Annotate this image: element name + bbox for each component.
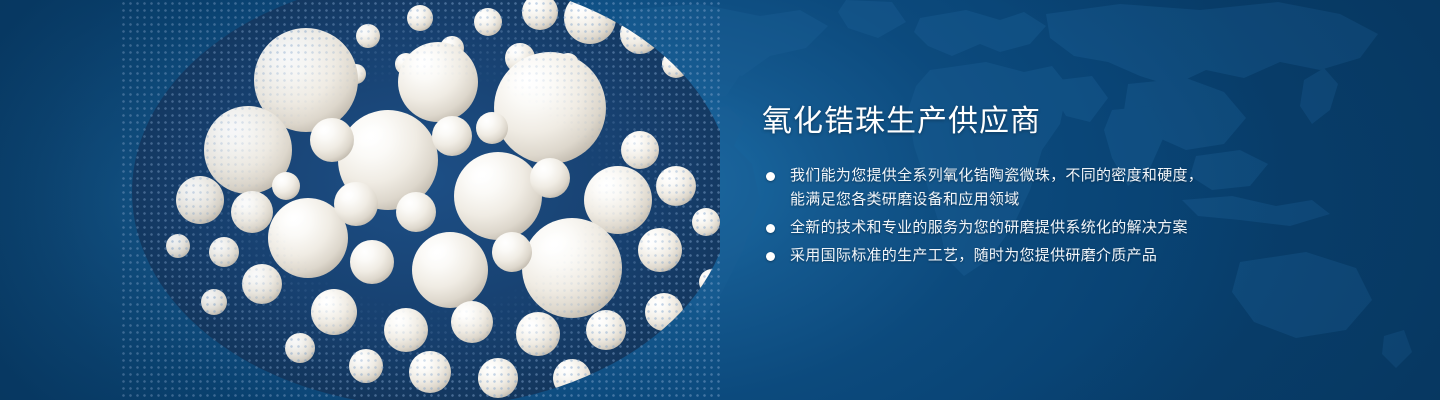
banner-feature-list: 我们能为您提供全系列氧化锆陶瓷微珠，不同的密度和硬度， 能满足您各类研磨设备和应…: [762, 164, 1322, 268]
bullet-line: 能满足您各类研磨设备和应用领域: [790, 188, 1322, 212]
bullet-dot-icon: [766, 252, 775, 261]
list-item: 采用国际标准的生产工艺，随时为您提供研磨介质产品: [762, 244, 1322, 268]
banner-text-panel: 氧化锆珠生产供应商 我们能为您提供全系列氧化锆陶瓷微珠，不同的密度和硬度， 能满…: [762, 102, 1322, 272]
bullet-dot-icon: [766, 172, 775, 181]
hero-banner: 氧化锆珠生产供应商 我们能为您提供全系列氧化锆陶瓷微珠，不同的密度和硬度， 能满…: [0, 0, 1440, 400]
list-item: 全新的技术和专业的服务为您的研磨提供系统化的解决方案: [762, 216, 1322, 240]
banner-headline: 氧化锆珠生产供应商: [762, 102, 1322, 142]
bullet-dot-icon: [766, 224, 775, 233]
bullet-line: 我们能为您提供全系列氧化锆陶瓷微珠，不同的密度和硬度，: [790, 164, 1322, 188]
list-item: 我们能为您提供全系列氧化锆陶瓷微珠，不同的密度和硬度， 能满足您各类研磨设备和应…: [762, 164, 1322, 212]
bullet-line: 全新的技术和专业的服务为您的研磨提供系统化的解决方案: [790, 216, 1322, 240]
bullet-line: 采用国际标准的生产工艺，随时为您提供研磨介质产品: [790, 244, 1322, 268]
